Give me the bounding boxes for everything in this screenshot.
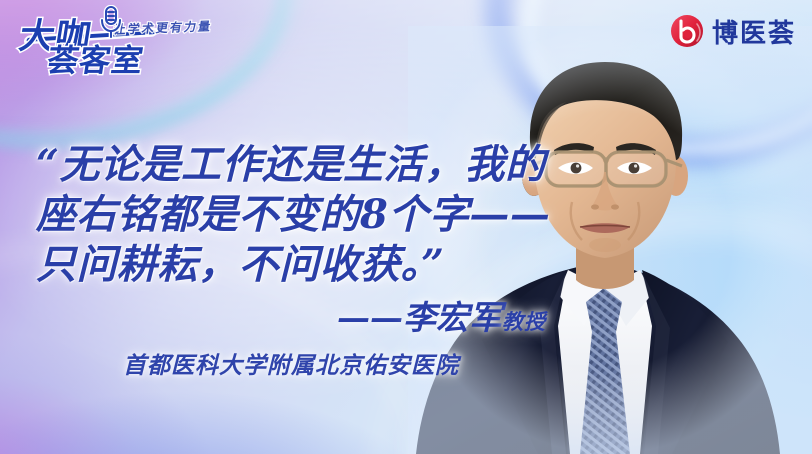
logo-line-2: 荟客室 [44,35,147,80]
sponsor-brand-name: 博医荟 [712,13,796,50]
boyihui-circle-mark-icon [670,14,704,48]
show-logo: 大咖 荟客室 让学术更有力量 [14,4,214,70]
attribution-person: 李宏军 [403,298,502,337]
attribution-dash: —— [337,298,403,337]
quote-text: “无论是工作还是生活，我的 座右铭都是不变的8个字—— 只问耕耘，不问收获。” [36,140,536,290]
quote-line-3: 只问耕耘，不问收获。” [36,240,536,290]
logo-tagline: 让学术更有力量 [113,17,214,37]
attribution-organization: 首都医科大学附属北京佑安医院 [36,352,546,380]
attribution-name: ——李宏军教授 [36,299,546,341]
promo-quote-card: 大咖 荟客室 让学术更有力量 [0,0,812,454]
quote-line-2: 座右铭都是不变的8个字—— [36,190,536,240]
microphone-icon [98,5,124,39]
sponsor-brand: 博医荟 [670,12,796,50]
attribution-title: 教授 [502,309,546,334]
quote-line-1: “无论是工作还是生活，我的 [36,140,536,190]
